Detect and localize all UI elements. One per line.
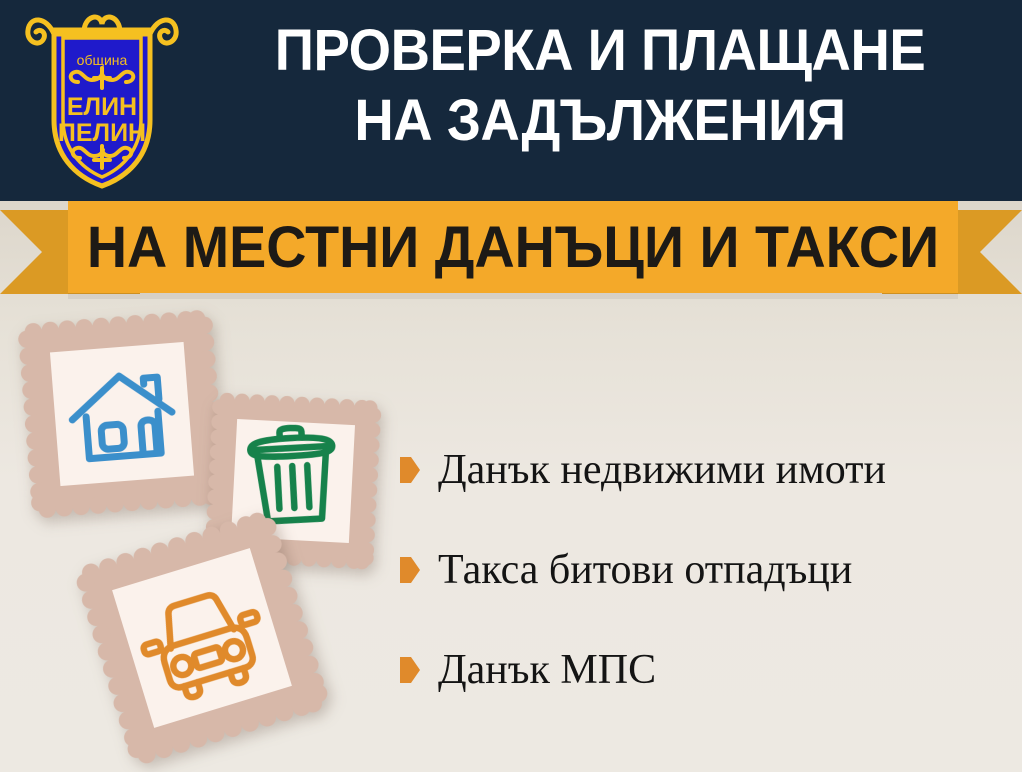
stamp-house-graphic	[17, 309, 228, 520]
title-line-2: НА ЗАДЪЛЖЕНИЯ	[215, 86, 986, 156]
crest-text-obshtina: община	[77, 52, 128, 68]
list-item-label: Данък МПС	[438, 649, 656, 691]
list-item-label: Данък недвижими имоти	[438, 449, 886, 491]
stamp-card-house	[17, 309, 228, 520]
arrow-bullet-icon	[400, 557, 420, 583]
list-item[interactable]: Данък МПС	[400, 620, 1010, 720]
list-item-label: Такса битови отпадъци	[438, 549, 852, 591]
services-list: Данък недвижими имоти Такса битови отпад…	[400, 420, 1010, 720]
arrow-bullet-icon	[400, 657, 420, 683]
ribbon-banner: НА МЕСТНИ ДАНЪЦИ И ТАКСИ	[0, 196, 1022, 306]
coat-of-arms-icon: община ЕЛИН ПЕЛИН	[22, 8, 182, 193]
page-title: ПРОВЕРКА И ПЛАЩАНЕ НА ЗАДЪЛЖЕНИЯ	[215, 16, 986, 156]
ribbon-band: НА МЕСТНИ ДАНЪЦИ И ТАКСИ	[68, 201, 958, 293]
crest-text-elin: ЕЛИН	[67, 93, 137, 121]
list-item[interactable]: Данък недвижими имоти	[400, 420, 1010, 520]
poster-canvas: община ЕЛИН ПЕЛИН ПРОВ	[0, 0, 1022, 772]
crest-text-pelin: ПЕЛИН	[58, 119, 146, 147]
title-line-1: ПРОВЕРКА И ПЛАЩАНЕ	[215, 16, 986, 86]
header-bar: община ЕЛИН ПЕЛИН ПРОВ	[0, 0, 1022, 201]
list-item[interactable]: Такса битови отпадъци	[400, 520, 1010, 620]
arrow-bullet-icon	[400, 457, 420, 483]
ribbon-text: НА МЕСТНИ ДАНЪЦИ И ТАКСИ	[86, 201, 940, 293]
